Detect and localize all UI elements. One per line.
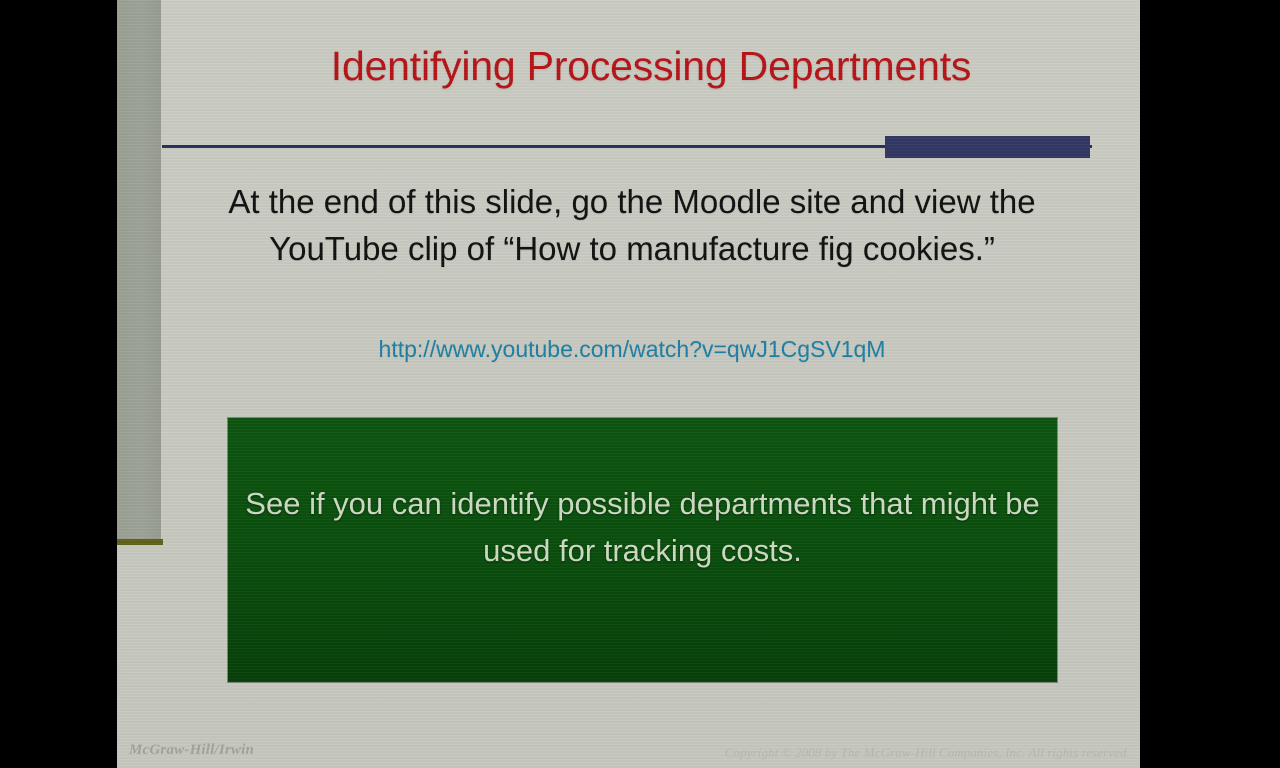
callout-box-text: See if you can identify possible departm…	[228, 480, 1057, 574]
presentation-screen: Identifying Processing Departments At th…	[0, 0, 1280, 768]
footer-brand: McGraw-Hill/Irwin	[129, 742, 254, 759]
left-band-accent-bar	[117, 539, 163, 545]
slide-canvas: Identifying Processing Departments At th…	[117, 0, 1140, 768]
callout-box: See if you can identify possible departm…	[228, 418, 1057, 682]
slide-title: Identifying Processing Departments	[162, 44, 1140, 89]
left-decorative-band	[117, 0, 161, 544]
youtube-link[interactable]: http://www.youtube.com/watch?v=qwJ1CgSV1…	[177, 334, 1087, 364]
title-divider-block	[885, 136, 1090, 158]
slide-body-text: At the end of this slide, go the Moodle …	[177, 178, 1087, 272]
footer-copyright: Copyright © 2008 by The McGraw-Hill Comp…	[725, 745, 1130, 761]
